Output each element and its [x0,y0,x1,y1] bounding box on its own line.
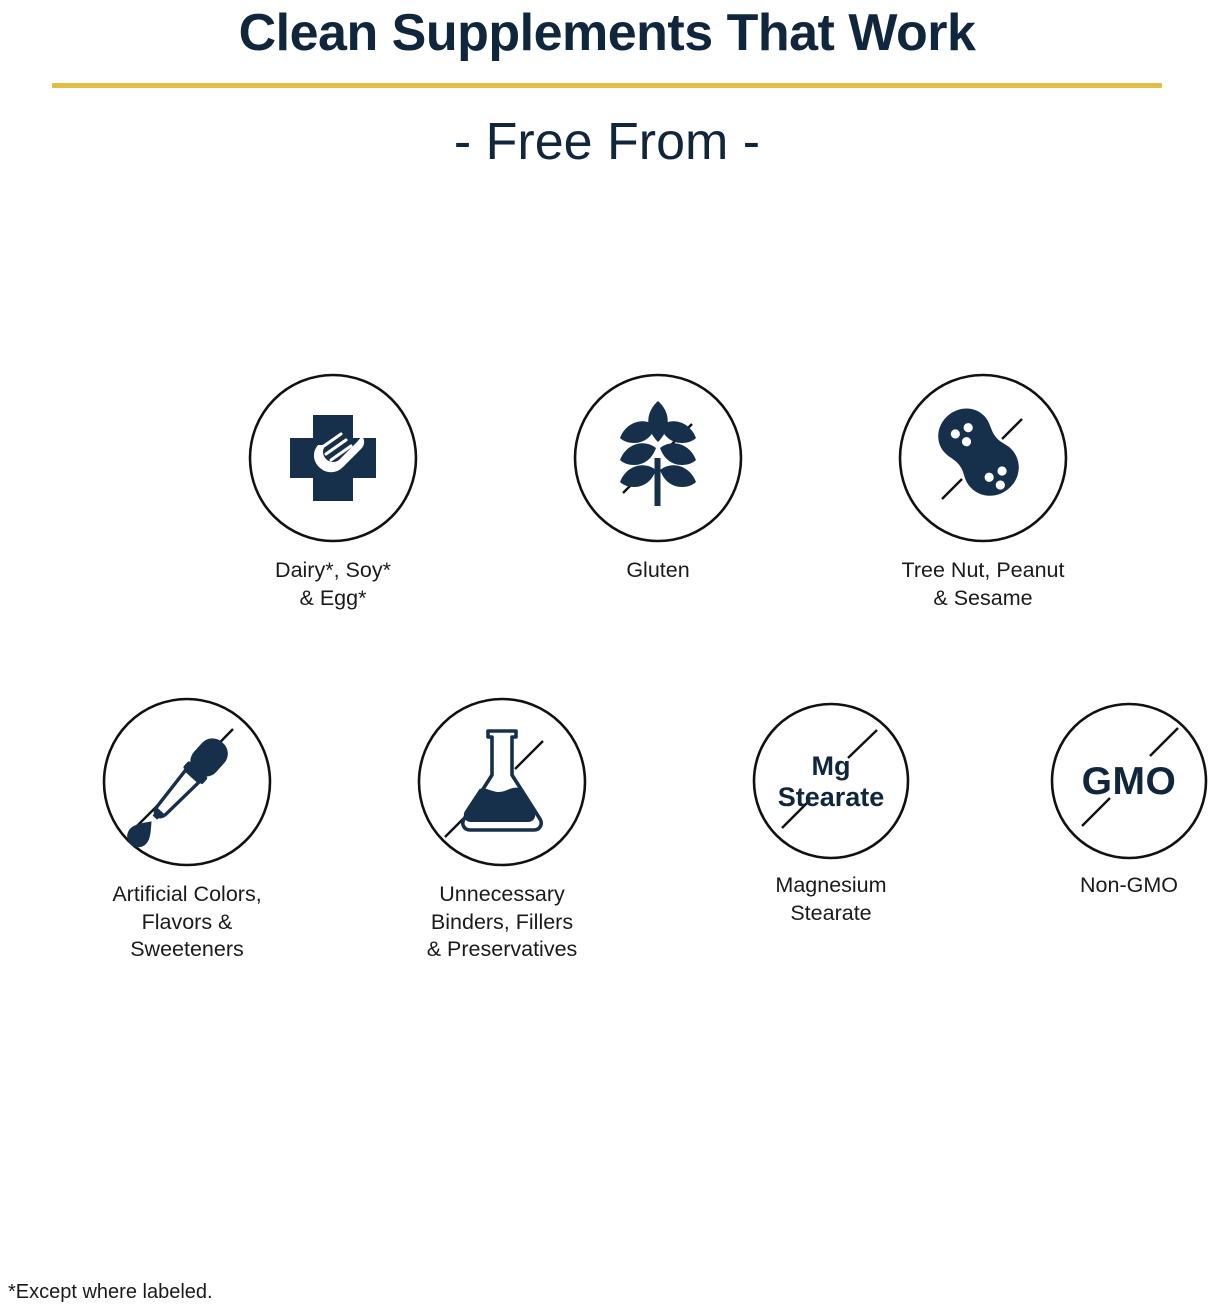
no-dairy-soy-egg-icon [248,373,418,543]
page-title: Clean Supplements That Work [0,0,1214,61]
badge-gmo: GMO Non-GMO [1050,702,1208,900]
badge-caption: Artificial Colors, Flavors & Sweeteners [112,881,261,964]
badge-gluten: Gluten [573,373,743,585]
badge-inner-text-line1: Mg [812,751,851,781]
badge-caption: Magnesium Stearate [775,872,886,927]
badge-inner-text-line2: Stearate [778,782,885,812]
no-artificial-colors-icon [102,697,272,867]
badge-artificial-colors: Artificial Colors, Flavors & Sweeteners [102,697,272,964]
footnote: *Except where labeled. [8,1281,213,1304]
badge-caption: Unnecessary Binders, Fillers & Preservat… [427,881,578,964]
badge-tree-nut-peanut-sesame: Tree Nut, Peanut & Sesame [898,373,1068,612]
no-nuts-icon [898,373,1068,543]
badge-caption: Gluten [626,557,689,585]
no-gmo-icon: GMO [1050,702,1208,860]
badge-caption: Dairy*, Soy* & Egg* [275,557,391,612]
badge-inner-text-line1: GMO [1082,760,1177,803]
badge-binders-fillers: Unnecessary Binders, Fillers & Preservat… [417,697,587,964]
no-magnesium-stearate-icon: Mg Stearate [752,702,910,860]
no-gluten-icon [573,373,743,543]
badge-dairy-soy-egg: Dairy*, Soy* & Egg* [248,373,418,612]
no-binders-fillers-icon [417,697,587,867]
badge-caption: Non-GMO [1080,872,1178,900]
badge-magnesium-stearate: Mg Stearate Magnesium Stearate [752,702,910,927]
page-subtitle: - Free From - [0,88,1214,171]
page-header: Clean Supplements That Work - Free From … [0,0,1214,171]
badge-caption: Tree Nut, Peanut & Sesame [902,557,1065,612]
